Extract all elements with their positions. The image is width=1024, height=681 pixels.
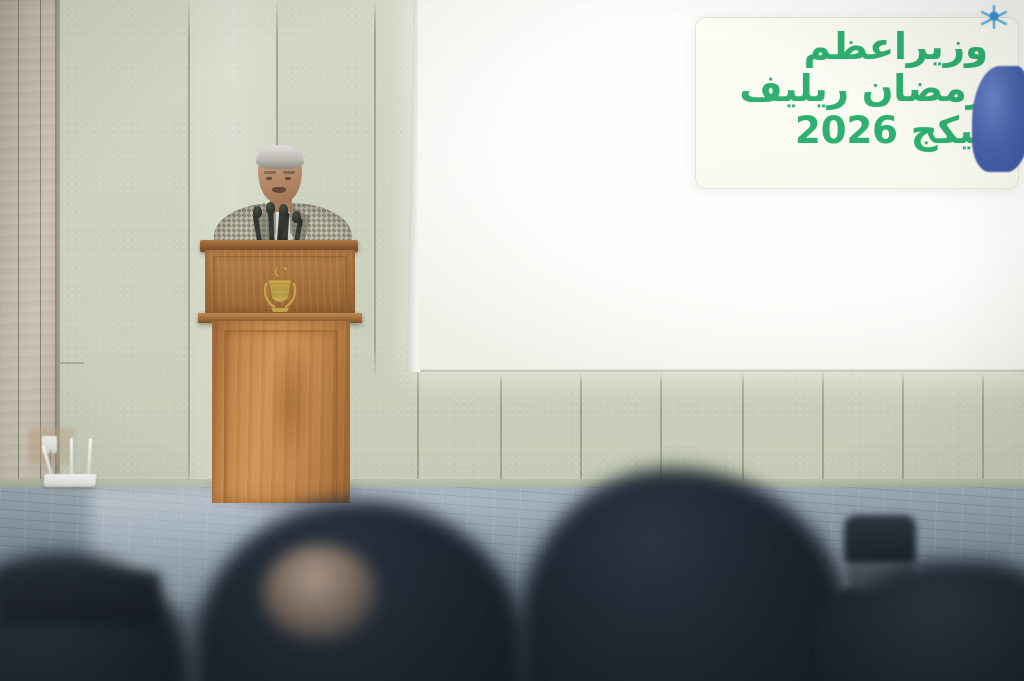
speaker-hair [256,145,304,169]
photograph-scene: وزیراعظم رمضان ریلیف پیکج 2026 [0,0,1024,681]
wall-corner-shadow [55,0,60,494]
wood-panel-seam [40,0,41,494]
speaker-mouth [272,187,286,193]
wall-seam-horizontal [60,362,84,364]
wall-seam [188,0,190,494]
wall-seam-horizontal [417,370,1024,372]
speaker-brow-right [283,171,295,174]
slide-headline-line-2: رمضان ریلیف [720,68,988,110]
router-cable [50,450,69,477]
video-camera-silhouette [0,572,160,624]
wall-seam [822,372,824,494]
wall-seam [374,0,376,374]
wall-seam [580,372,582,494]
left-wood-paneling [0,0,60,494]
wood-panel-seam [18,0,19,494]
microphone-head-icon [279,204,288,216]
microphone-head-icon [253,206,262,218]
speaker-brow-left [264,171,276,174]
pakistan-state-emblem-icon [251,264,309,314]
karakul-cap-icon [844,515,916,563]
wifi-router [43,474,96,487]
wall-seam [982,372,984,494]
podium-base-column [212,321,350,503]
slide-headline-line-1: وزیراعظم [720,26,988,68]
wall-seam [417,366,419,494]
router-antenna-icon [70,438,73,476]
audience-bald-crown [262,545,378,641]
microphone-head-icon [266,202,275,214]
wall-seam [742,372,744,494]
wall-seam [500,372,502,494]
slide-text-card: وزیراعظم رمضان ریلیف پیکج 2026 [696,18,1018,188]
wall-seam [902,372,904,494]
speaker-eye-right [285,177,291,180]
slide-headline: وزیراعظم رمضان ریلیف پیکج 2026 [720,26,988,153]
podium-front-face [205,250,355,316]
microphone-head-icon [292,211,301,223]
speaker-eye-left [266,177,272,180]
slide-headline-line-3: پیکج 2026 [720,110,988,152]
slide-blue-figure-icon [972,66,1024,172]
slide-sparkle-icon [972,2,1018,42]
podium-wood-grain [270,346,312,458]
